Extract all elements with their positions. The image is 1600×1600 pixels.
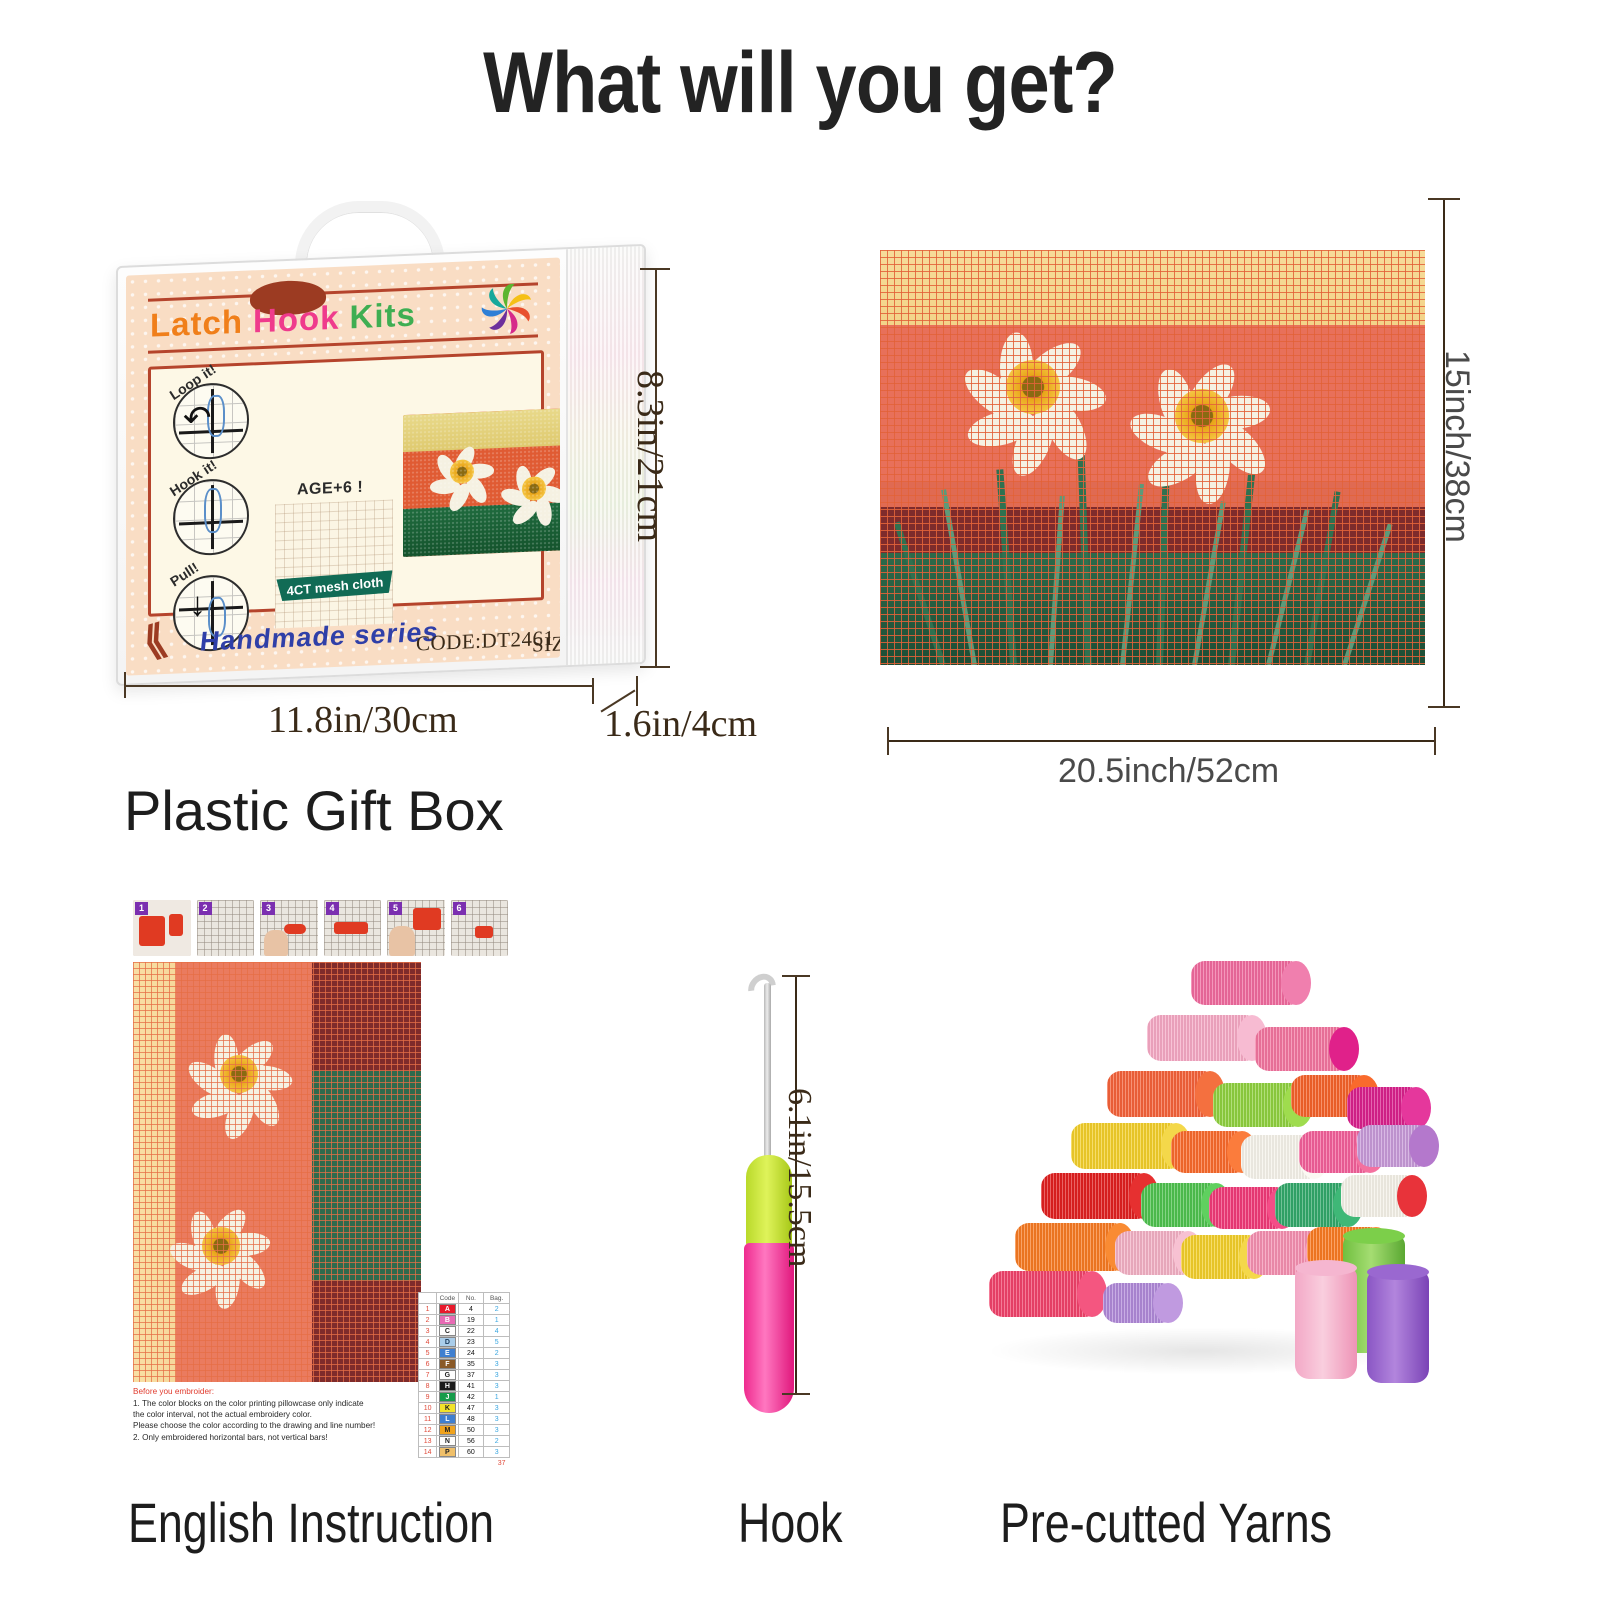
box-front-panel: Latch Hook Kits bbox=[126, 257, 560, 675]
note-line-4: 2. Only embroidered horizontal bars, not… bbox=[133, 1433, 328, 1442]
brand-word-hook: Hook bbox=[253, 299, 340, 341]
english-instruction-sheet: 1 2 3 4 5 bbox=[125, 900, 510, 1475]
mesh-height-tick-bottom bbox=[1428, 706, 1460, 708]
before-you-embroider-note: Before you embroider: 1. The color block… bbox=[133, 1386, 433, 1443]
legend-cell-number: 60 bbox=[458, 1447, 484, 1458]
legend-cell-index: 3 bbox=[419, 1326, 437, 1337]
legend-cell-number: 37 bbox=[458, 1370, 484, 1381]
legend-cell-swatch: F bbox=[437, 1359, 458, 1370]
mesh-width-tick-right bbox=[1434, 727, 1436, 755]
legend-cell-bag: 1 bbox=[484, 1392, 510, 1403]
legend-color-swatch: C bbox=[439, 1326, 456, 1336]
legend-cell-index: 4 bbox=[419, 1337, 437, 1348]
legend-cell-number: 22 bbox=[458, 1326, 484, 1337]
mesh-height-dimension-label: 15inch/38cm bbox=[1437, 350, 1476, 543]
step-thumbnail: 4 bbox=[324, 900, 382, 956]
legend-color-swatch: F bbox=[439, 1359, 456, 1369]
yarn-bundle bbox=[1071, 1123, 1183, 1169]
yarn-bundle bbox=[1015, 1223, 1127, 1271]
yarn-bundle bbox=[1255, 1027, 1351, 1071]
legend-color-swatch: K bbox=[439, 1403, 456, 1413]
legend-cell-bag: 3 bbox=[484, 1414, 510, 1425]
gift-box-illustration: Latch Hook Kits bbox=[110, 195, 670, 695]
hook-caption: Hook bbox=[738, 1490, 843, 1555]
legend-color-swatch: D bbox=[439, 1337, 456, 1347]
hook-length-tick-bottom bbox=[782, 1393, 810, 1395]
legend-color-swatch: L bbox=[439, 1414, 456, 1424]
legend-cell-swatch: J bbox=[437, 1392, 458, 1403]
legend-cell-bag: 3 bbox=[484, 1370, 510, 1381]
legend-cell-number: 56 bbox=[458, 1436, 484, 1447]
box-width-tick-right bbox=[592, 678, 594, 704]
mesh-width-tick-left bbox=[887, 727, 889, 755]
legend-total-row: 37 bbox=[419, 1458, 510, 1469]
legend-cell-number: 19 bbox=[458, 1315, 484, 1326]
step-thumbnail: 5 bbox=[387, 900, 445, 956]
legend-cell-bag: 3 bbox=[484, 1359, 510, 1370]
legend-cell-bag: 3 bbox=[484, 1447, 510, 1458]
legend-cell-number: 47 bbox=[458, 1403, 484, 1414]
thumb-number: 3 bbox=[262, 902, 275, 915]
legend-cell-number: 41 bbox=[458, 1381, 484, 1392]
age-label: AGE+6 ! bbox=[297, 479, 363, 500]
note-line-2: the color interval, not the actual embro… bbox=[133, 1410, 312, 1419]
page-title: What will you get? bbox=[112, 34, 1488, 133]
box-height-dimension-label: 8.3in/21cm bbox=[628, 370, 672, 542]
legend-cell-swatch: A bbox=[437, 1304, 458, 1315]
box-height-tick-bottom bbox=[640, 666, 670, 668]
legend-cell-bag: 2 bbox=[484, 1436, 510, 1447]
legend-header-code: Code bbox=[437, 1293, 458, 1304]
note-title: Before you embroider: bbox=[133, 1386, 433, 1397]
yarn-tube-pink bbox=[1295, 1267, 1357, 1379]
legend-color-swatch: G bbox=[439, 1370, 456, 1380]
legend-cell-bag: 2 bbox=[484, 1304, 510, 1315]
instruction-caption: English Instruction bbox=[128, 1490, 494, 1555]
legend-cell-number: 24 bbox=[458, 1348, 484, 1359]
box-width-tick-left bbox=[124, 672, 126, 698]
legend-total-value: 37 bbox=[419, 1458, 510, 1469]
box-body: Latch Hook Kits bbox=[116, 244, 646, 686]
legend-cell-number: 35 bbox=[458, 1359, 484, 1370]
legend-row: 7G373 bbox=[419, 1370, 510, 1381]
thumb-number: 5 bbox=[389, 902, 402, 915]
legend-color-swatch: B bbox=[439, 1315, 456, 1325]
yarn-bundle bbox=[1191, 961, 1303, 1005]
legend-cell-swatch: N bbox=[437, 1436, 458, 1447]
step-thumbnail: 1 bbox=[133, 900, 191, 956]
instruction-color-chart bbox=[133, 962, 421, 1382]
legend-cell-bag: 3 bbox=[484, 1425, 510, 1436]
thumb-number: 4 bbox=[326, 902, 339, 915]
legend-color-swatch: J bbox=[439, 1392, 456, 1402]
legend-row: 2B191 bbox=[419, 1315, 510, 1326]
legend-cell-number: 50 bbox=[458, 1425, 484, 1436]
legend-cell-bag: 4 bbox=[484, 1326, 510, 1337]
mesh-flower-left bbox=[958, 312, 1108, 462]
legend-cell-bag: 2 bbox=[484, 1348, 510, 1359]
gift-box-caption: Plastic Gift Box bbox=[124, 778, 504, 843]
rug-preview-photo bbox=[403, 407, 560, 557]
legend-row: 14P603 bbox=[419, 1447, 510, 1458]
legend-cell-number: 48 bbox=[458, 1414, 484, 1425]
yarn-bundle bbox=[1107, 1071, 1217, 1117]
thumb-number: 1 bbox=[135, 902, 148, 915]
mesh-width-dimension-line bbox=[888, 740, 1436, 742]
brand-word-latch: Latch bbox=[150, 303, 243, 345]
step-thumbnail: 2 bbox=[197, 900, 255, 956]
legend-row: 6F353 bbox=[419, 1359, 510, 1370]
legend-cell-swatch: C bbox=[437, 1326, 458, 1337]
yarn-bundle bbox=[989, 1271, 1099, 1317]
box-width-dimension-label: 11.8in/30cm bbox=[268, 698, 458, 742]
legend-cell-swatch: E bbox=[437, 1348, 458, 1359]
hook-handle-lower bbox=[744, 1243, 794, 1413]
box-width-dimension-line bbox=[125, 685, 593, 687]
legend-cell-swatch: M bbox=[437, 1425, 458, 1436]
legend-color-swatch: N bbox=[439, 1436, 456, 1446]
yarn-bundle bbox=[1347, 1087, 1423, 1129]
legend-cell-index: 14 bbox=[419, 1447, 437, 1458]
legend-cell-number: 23 bbox=[458, 1337, 484, 1348]
step-thumbnail: 3 bbox=[260, 900, 318, 956]
box-height-tick-top bbox=[640, 268, 670, 270]
yarns-caption: Pre-cutted Yarns bbox=[1000, 1490, 1332, 1555]
legend-row: 1A42 bbox=[419, 1304, 510, 1315]
legend-row: 3C224 bbox=[419, 1326, 510, 1337]
legend-cell-index: 7 bbox=[419, 1370, 437, 1381]
legend-cell-swatch: H bbox=[437, 1381, 458, 1392]
pinwheel-logo-icon bbox=[474, 274, 540, 343]
legend-cell-swatch: B bbox=[437, 1315, 458, 1326]
legend-cell-swatch: D bbox=[437, 1337, 458, 1348]
legend-cell-swatch: K bbox=[437, 1403, 458, 1414]
hook-latch-tip-icon bbox=[743, 968, 782, 1008]
legend-cell-number: 42 bbox=[458, 1392, 484, 1403]
thumb-number: 6 bbox=[453, 902, 466, 915]
legend-color-swatch: P bbox=[439, 1447, 456, 1457]
yarn-bundle bbox=[1103, 1283, 1175, 1323]
legend-color-swatch: H bbox=[439, 1381, 456, 1391]
legend-header-row: Code No. Bag. bbox=[419, 1293, 510, 1304]
box-inner-panel: ↶ Loop it! Hook it! bbox=[148, 350, 544, 617]
legend-color-swatch: E bbox=[439, 1348, 456, 1358]
yarn-bundle bbox=[1147, 1015, 1259, 1061]
legend-header-no: No. bbox=[458, 1293, 484, 1304]
legend-cell-bag: 1 bbox=[484, 1315, 510, 1326]
legend-row: 5E242 bbox=[419, 1348, 510, 1359]
hook-length-tick-top bbox=[782, 975, 810, 977]
legend-header-bag: Bag. bbox=[484, 1293, 510, 1304]
yarn-bundle bbox=[1171, 1131, 1249, 1173]
legend-color-swatch: A bbox=[439, 1304, 456, 1314]
legend-row: 4D235 bbox=[419, 1337, 510, 1348]
legend-cell-index: 2 bbox=[419, 1315, 437, 1326]
mesh-canvas-illustration bbox=[880, 250, 1425, 665]
legend-cell-index: 5 bbox=[419, 1348, 437, 1359]
legend-cell-bag: 5 bbox=[484, 1337, 510, 1348]
infographic-page: What will you get? Latch Hook Kits bbox=[0, 0, 1600, 1600]
mesh-width-dimension-label: 20.5inch/52cm bbox=[1058, 752, 1279, 791]
step-thumbnail: 6 bbox=[451, 900, 509, 956]
mesh-height-tick-top bbox=[1428, 198, 1460, 200]
legend-cell-swatch: G bbox=[437, 1370, 458, 1381]
legend-cell-bag: 3 bbox=[484, 1381, 510, 1392]
thumb-number: 2 bbox=[199, 902, 212, 915]
legend-cell-index: 1 bbox=[419, 1304, 437, 1315]
legend-cell-index: 6 bbox=[419, 1359, 437, 1370]
printed-mesh-canvas bbox=[880, 250, 1425, 665]
brush-mark-icon: ⟪ bbox=[140, 613, 193, 666]
legend-header-index bbox=[419, 1293, 437, 1304]
pre-cut-yarn-bundles bbox=[955, 935, 1455, 1385]
yarn-bundle bbox=[1041, 1173, 1151, 1219]
legend-cell-number: 4 bbox=[458, 1304, 484, 1315]
step-thumbnail-strip: 1 2 3 4 5 bbox=[133, 900, 508, 956]
handmade-series-label: Handmade series bbox=[198, 617, 440, 658]
brand-word-kits: Kits bbox=[350, 296, 416, 337]
legend-cell-swatch: L bbox=[437, 1414, 458, 1425]
legend-cell-swatch: P bbox=[437, 1447, 458, 1458]
box-depth-dimension-label: 1.6in/4cm bbox=[604, 702, 757, 746]
yarn-tube-purple bbox=[1367, 1271, 1429, 1383]
hook-needle bbox=[764, 983, 771, 1161]
yarn-bundle bbox=[1357, 1125, 1431, 1167]
legend-color-swatch: M bbox=[439, 1425, 456, 1435]
yarn-bundle bbox=[1341, 1175, 1419, 1217]
legend-cell-bag: 3 bbox=[484, 1403, 510, 1414]
note-line-3: Please choose the color according to the… bbox=[133, 1421, 375, 1430]
mesh-flower-right bbox=[1128, 342, 1276, 490]
hook-length-dimension-label: 6.1in/15.5cm bbox=[780, 1088, 818, 1267]
note-line-1: 1. The color blocks on the color printin… bbox=[133, 1399, 364, 1408]
